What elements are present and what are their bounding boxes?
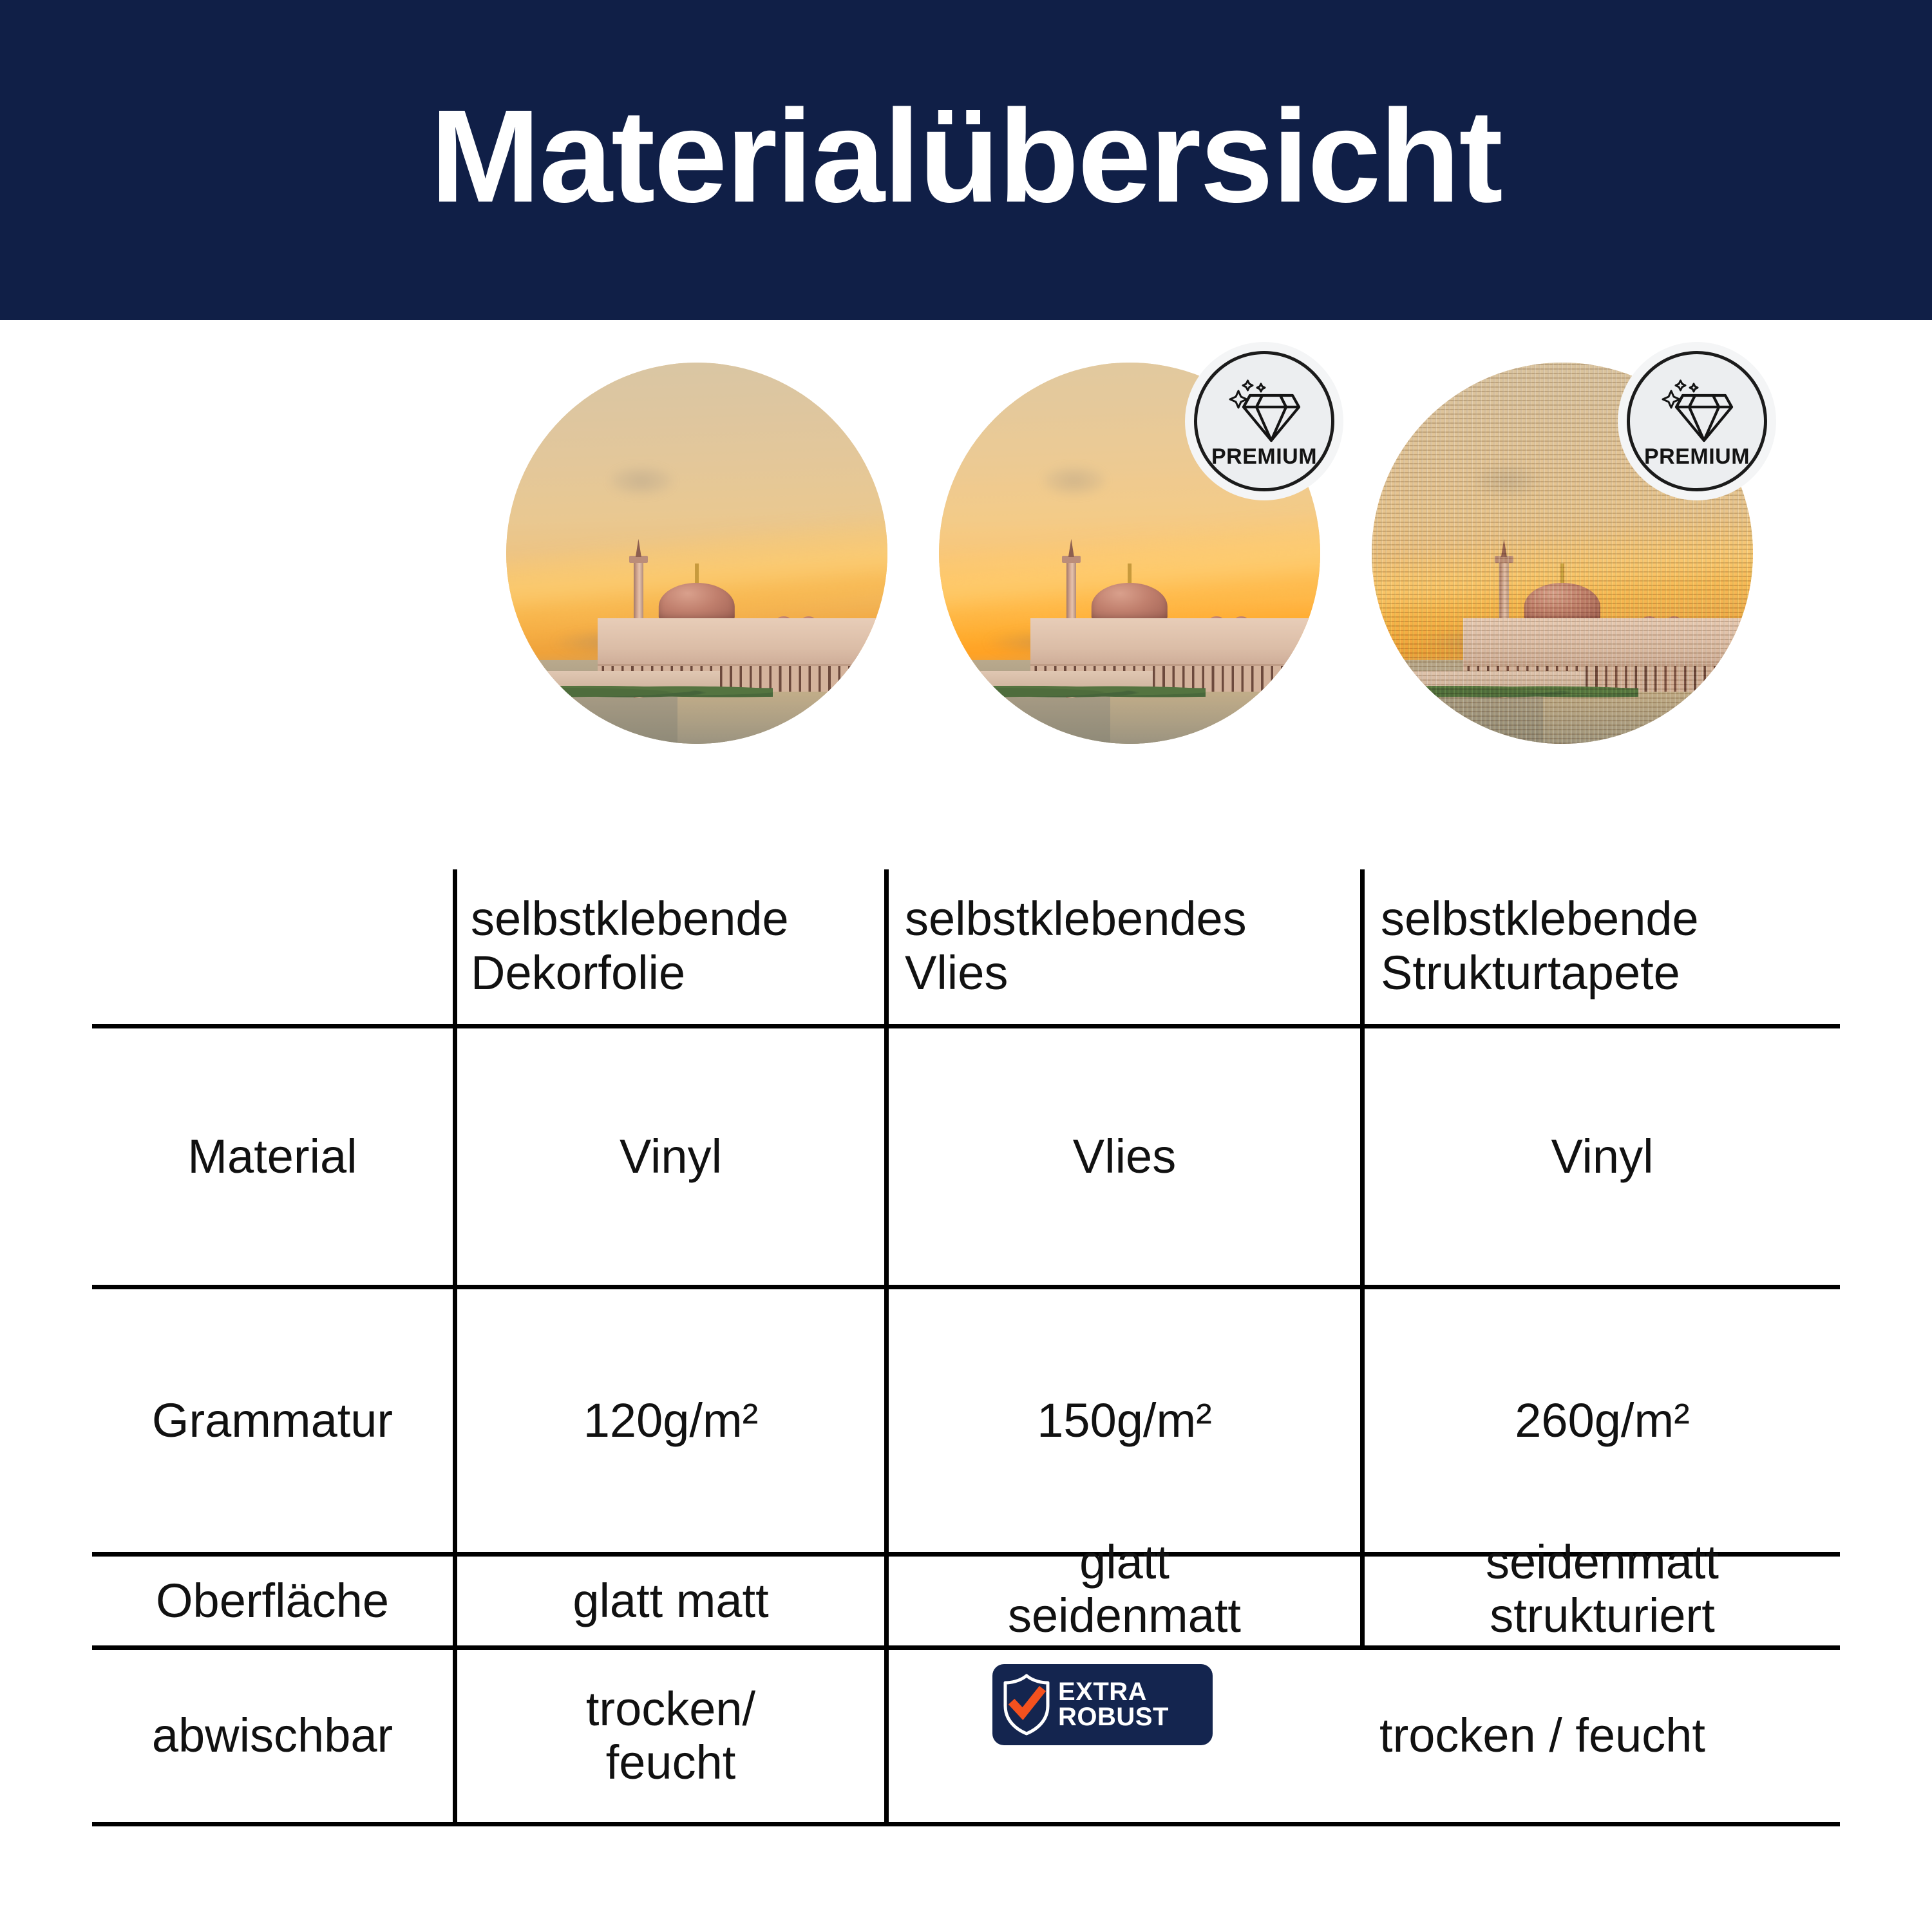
- premium-badge-label: PREMIUM: [1644, 446, 1750, 468]
- row-label-abwischbar: abwischbar: [92, 1650, 453, 1822]
- header-line-1: selbstklebende: [471, 892, 789, 946]
- table-column-rule: [453, 869, 457, 1826]
- table-header-dekorfolie: selbstklebende Dekorfolie: [462, 872, 880, 1020]
- cell-material-vlies: Vlies: [889, 1028, 1360, 1285]
- cell-material-strukturtapete: Vinyl: [1365, 1028, 1840, 1285]
- extra-robust-badge: EXTRA ROBUST: [992, 1664, 1213, 1745]
- tree-line: [947, 684, 1206, 698]
- cell-grammatur-dekorfolie: 120g/m²: [457, 1289, 884, 1552]
- material-sample-1[interactable]: [506, 363, 887, 744]
- premium-badge: PREMIUM: [1194, 351, 1334, 491]
- main-dome: [1092, 583, 1168, 621]
- table-rule: [92, 1285, 1840, 1289]
- table-header-vlies: selbstklebendes Vlies: [896, 872, 1356, 1020]
- material-sample-2[interactable]: PREMIUM: [939, 363, 1320, 744]
- extra-robust-text: EXTRA ROBUST: [1058, 1680, 1169, 1730]
- robust-line-1: EXTRA: [1058, 1680, 1169, 1705]
- material-overview-page: Materialübersicht: [0, 0, 1932, 1932]
- value-line-1: seidenmatt: [1486, 1536, 1719, 1589]
- value-line-2: strukturiert: [1490, 1589, 1715, 1643]
- cell-abwischbar-dekorfolie: trocken/ feucht: [457, 1650, 884, 1822]
- table-column-rule: [884, 869, 889, 1826]
- table-header-strukturtapete: selbstklebende Strukturtapete: [1372, 872, 1835, 1020]
- header-line-2: Vlies: [905, 946, 1008, 1000]
- premium-badge: PREMIUM: [1627, 351, 1767, 491]
- premium-badge-label: PREMIUM: [1211, 446, 1317, 468]
- page-header-banner: Materialübersicht: [0, 0, 1932, 320]
- material-sample-3[interactable]: PREMIUM: [1372, 363, 1753, 744]
- value-line-1: trocken/: [586, 1683, 755, 1736]
- cell-oberflaeche-dekorfolie: glatt matt: [457, 1557, 884, 1645]
- cloud-shape: [1042, 466, 1107, 496]
- material-sample-gallery: PREMIUM: [0, 363, 1932, 749]
- page-title: Materialübersicht: [430, 90, 1501, 222]
- cloud-shape: [609, 466, 674, 496]
- cell-oberflaeche-strukturtapete: seidenmatt strukturiert: [1365, 1533, 1840, 1645]
- table-rule: [92, 1822, 1840, 1826]
- header-line-2: Dekorfolie: [471, 946, 685, 1000]
- mosque-silhouette: [939, 538, 1320, 698]
- shield-check-icon: [1001, 1674, 1052, 1736]
- main-dome: [659, 583, 735, 621]
- material-comparison-table: selbstklebende Dekorfolie selbstklebende…: [92, 863, 1840, 1826]
- cell-oberflaeche-vlies: glatt seidenmatt: [889, 1533, 1360, 1645]
- header-line-1: selbstklebende: [1381, 892, 1699, 946]
- tree-line: [514, 684, 773, 698]
- table-rule: [92, 1024, 1840, 1028]
- header-line-1: selbstklebendes: [905, 892, 1247, 946]
- cell-material-dekorfolie: Vinyl: [457, 1028, 884, 1285]
- robust-line-2: ROBUST: [1058, 1705, 1169, 1730]
- value-line-2: feucht: [606, 1736, 736, 1790]
- mosque-silhouette: [506, 538, 887, 698]
- row-label-grammatur: Grammatur: [92, 1289, 453, 1552]
- diamond-icon: [1656, 377, 1738, 444]
- table-column-rule: [1360, 869, 1365, 1649]
- cell-abwischbar-merged: trocken / feucht: [1245, 1650, 1840, 1822]
- value-line-2: seidenmatt: [1008, 1589, 1241, 1643]
- table-rule: [92, 1645, 1840, 1650]
- row-label-oberflaeche: Oberfläche: [92, 1557, 453, 1645]
- row-label-material: Material: [92, 1028, 453, 1285]
- diamond-icon: [1223, 377, 1305, 444]
- cell-grammatur-vlies: 150g/m²: [889, 1289, 1360, 1552]
- cell-grammatur-strukturtapete: 260g/m²: [1365, 1289, 1840, 1552]
- value-line-1: glatt: [1079, 1536, 1170, 1589]
- header-line-2: Strukturtapete: [1381, 946, 1680, 1000]
- sample-image-dekorfolie: [506, 363, 887, 744]
